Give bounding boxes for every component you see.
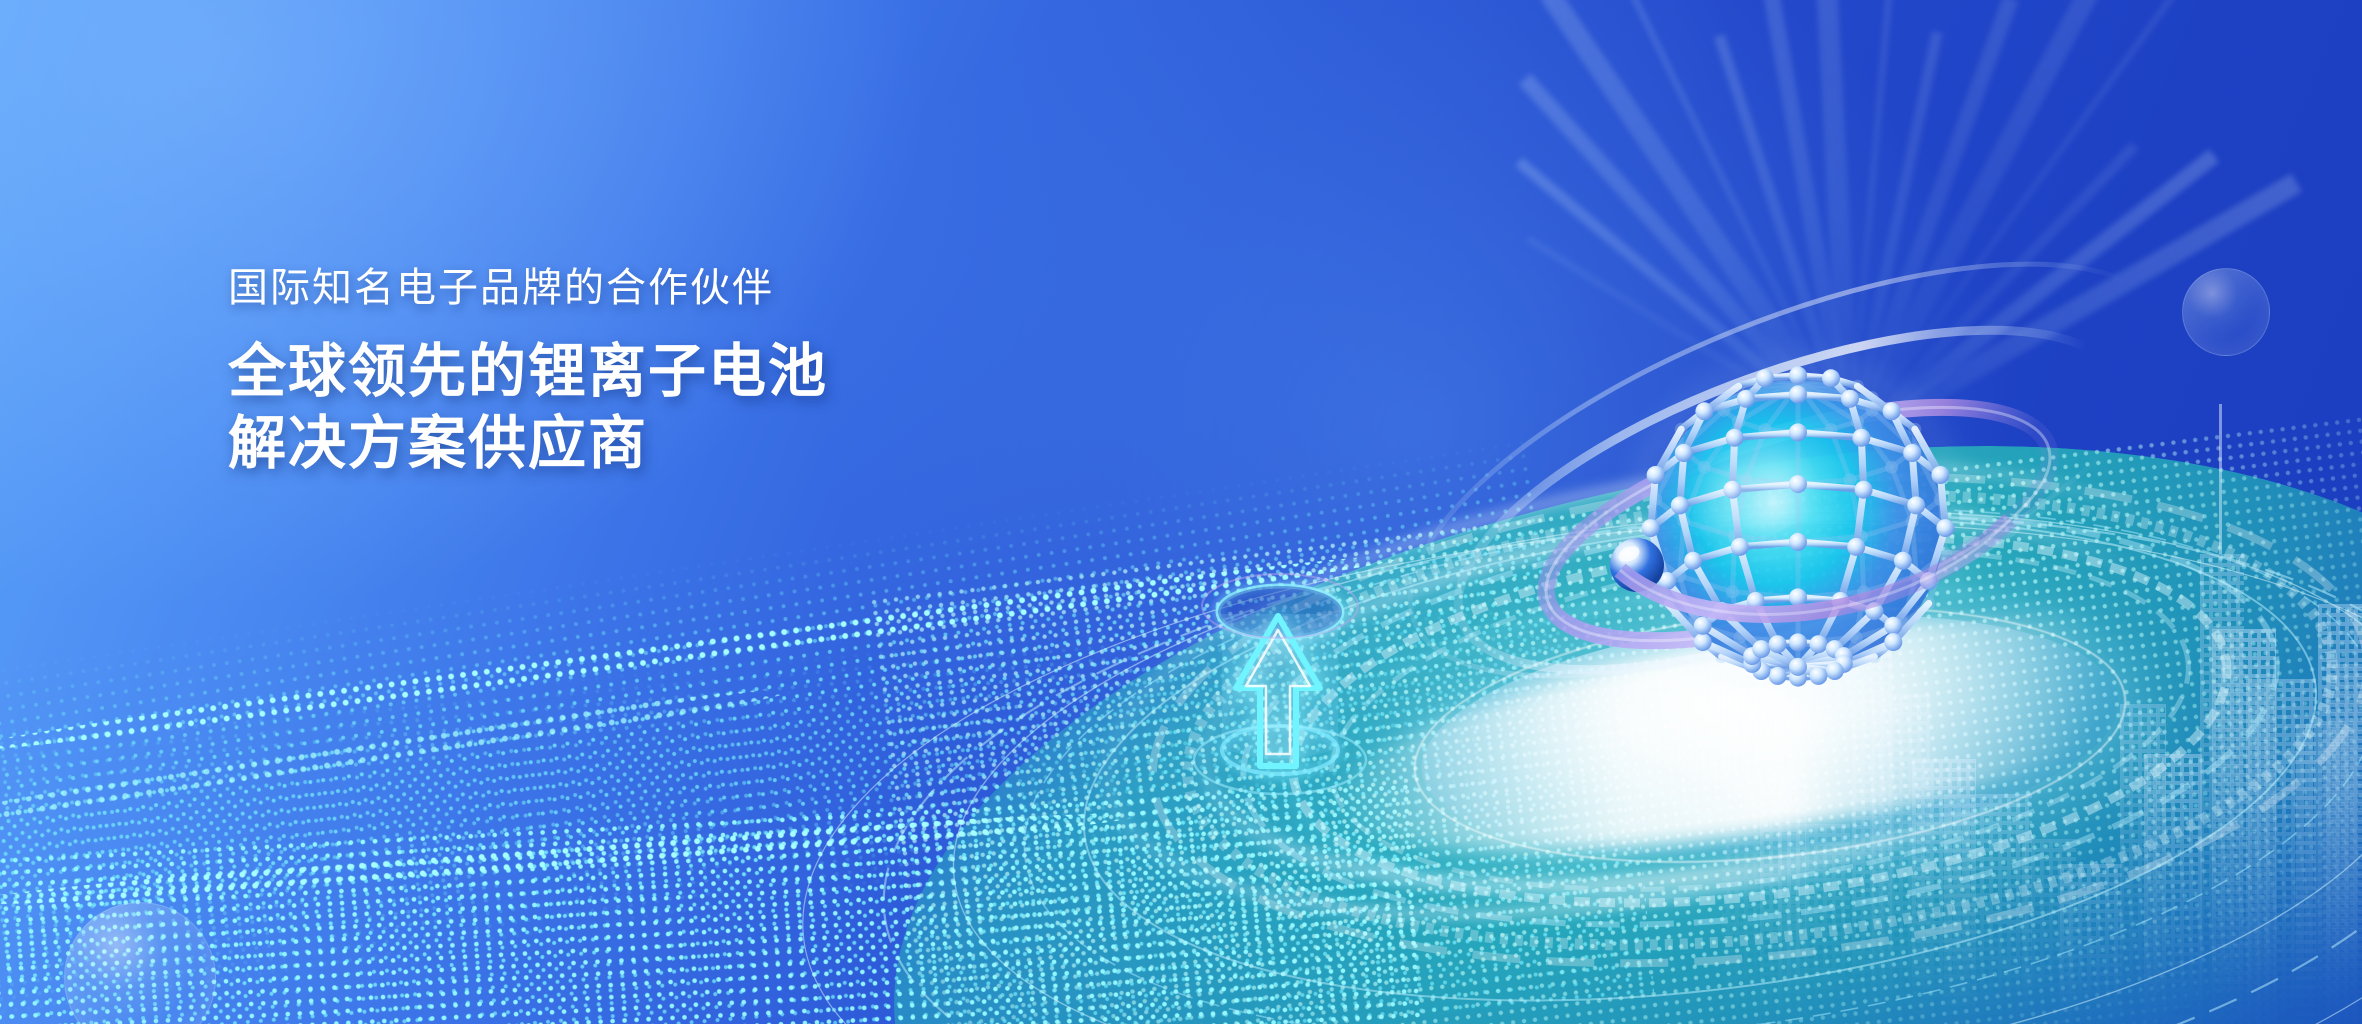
skyline-building	[1760, 774, 1806, 1024]
wireframe-globe-icon	[1608, 336, 1988, 716]
skyline-building	[2060, 864, 2122, 1024]
globe-node	[1903, 444, 1921, 462]
globe-node	[1658, 572, 1676, 590]
skyline-building	[1944, 794, 2032, 1024]
globe-node	[1885, 461, 1898, 474]
globe-node	[1726, 429, 1744, 447]
globe-node	[1675, 444, 1693, 462]
globe-node	[1809, 667, 1827, 685]
globe-node	[1756, 369, 1774, 387]
skyline-building	[1778, 824, 1850, 1024]
skyline-building	[2144, 754, 2202, 1024]
globe-node	[1884, 633, 1902, 651]
globe-node	[1695, 402, 1713, 420]
globe-node	[1737, 390, 1755, 408]
globe-node	[1789, 423, 1807, 441]
globe-node	[1844, 473, 1857, 486]
globe-node	[1752, 640, 1770, 658]
halftone-wave-mesh	[0, 0, 2362, 1024]
globe-node	[1769, 667, 1787, 685]
globe-node	[1789, 533, 1807, 551]
globe-node	[1822, 369, 1840, 387]
globe-node	[1769, 635, 1787, 653]
globe-node	[1847, 538, 1865, 556]
globe-node	[1789, 633, 1807, 651]
globe-node	[1789, 658, 1807, 676]
globe-node	[1642, 519, 1660, 537]
globe-node	[1894, 552, 1912, 570]
wave-mesh-layer-a	[0, 436, 1577, 1024]
orbit-rings	[0, 0, 2362, 1024]
globe-node	[1747, 592, 1765, 610]
globe-node	[1883, 402, 1901, 420]
globe-node	[1865, 602, 1883, 620]
bubble-sphere-icon	[2182, 268, 2270, 356]
globe-node	[1731, 538, 1749, 556]
skyline-spire	[2219, 404, 2222, 554]
globe-node	[1855, 481, 1873, 499]
globe-node	[1884, 617, 1902, 635]
globe-node	[1857, 585, 1870, 598]
wave-crest-line	[0, 677, 797, 837]
teal-gradient-sweep	[840, 369, 2362, 1024]
globe-node	[1698, 461, 1711, 474]
globe-node	[1831, 592, 1849, 610]
skyline-building	[2246, 679, 2316, 1024]
globe-node	[1841, 390, 1859, 408]
bubble-sphere-icon	[64, 902, 216, 1024]
globe-node	[1694, 617, 1712, 635]
globe-node	[1931, 466, 1949, 484]
skyline-building	[2022, 839, 2076, 1024]
globe-node	[1671, 496, 1689, 514]
skyline-building	[2318, 604, 2362, 1024]
orbit-sphere-icon	[0, 0, 2362, 1024]
skyline-building	[2212, 629, 2276, 1024]
skyline-building	[1872, 694, 1930, 1024]
globe-node	[1936, 519, 1954, 537]
skyline-building	[2326, 664, 2362, 1024]
globe-node	[1789, 367, 1807, 385]
globe-node	[1694, 633, 1712, 651]
globe-node	[1713, 602, 1731, 620]
skyline-building	[1912, 759, 1976, 1024]
skyline-building	[2200, 554, 2244, 1024]
hero-copy-block: 国际知名电子品牌的合作伙伴 全球领先的锂离子电池 解决方案供应商	[228, 262, 828, 480]
skyline-building	[2120, 704, 2166, 1024]
wave-mesh-layer-b	[0, 582, 1655, 1024]
globe-node	[1826, 662, 1844, 680]
globe-node	[1907, 496, 1925, 514]
banner-headline-line-1: 全球领先的锂离子电池	[228, 336, 828, 408]
banner-headline-line-2: 解决方案供应商	[228, 408, 828, 480]
wave-crest-line	[0, 542, 1415, 764]
hero-banner: 国际知名电子品牌的合作伙伴 全球领先的锂离子电池 解决方案供应商	[0, 0, 2362, 1024]
skyline-building	[2296, 724, 2354, 1024]
globe-node	[1684, 552, 1702, 570]
wave-crest-line	[0, 803, 1139, 915]
upward-arrow-portal-icon	[1170, 570, 1390, 800]
globe-node	[1852, 429, 1870, 447]
globe-node	[1789, 385, 1807, 403]
hud-ellipse-ring	[775, 439, 2362, 1024]
globe-node	[1809, 635, 1827, 653]
wave-mesh-layer-c	[0, 781, 1427, 1024]
globe-node	[1789, 588, 1807, 606]
globe-node	[1726, 585, 1739, 598]
globe-node	[1920, 572, 1938, 590]
globe-node	[1647, 466, 1665, 484]
skyline-building	[1708, 724, 1762, 1024]
banner-subtitle: 国际知名电子品牌的合作伙伴	[228, 262, 828, 314]
